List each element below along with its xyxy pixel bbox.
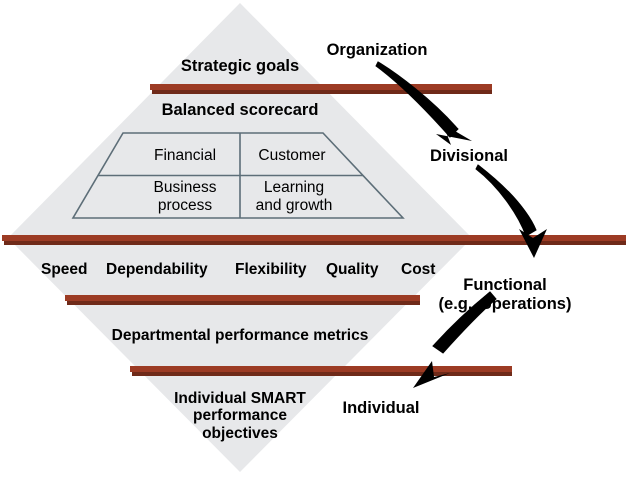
diagram-canvas: Strategic goals Balanced scorecard Finan… [0, 0, 626, 480]
scorecard-cell-business-process: Business process [154, 179, 217, 216]
band-label-strategic-goals: Strategic goals [181, 57, 299, 75]
band-label-individual-line3: objectives [174, 425, 306, 442]
band-line-3 [65, 295, 420, 305]
band-label-individual-line2: performance [174, 407, 306, 424]
scorecard-cell-business-process-line2: process [154, 197, 217, 215]
scorecard-cell-learning-and-growth-line2: and growth [256, 197, 333, 215]
band-label-individual-line1: Individual SMART [174, 390, 306, 407]
band-line-4 [130, 366, 512, 376]
band-label-balanced-scorecard: Balanced scorecard [162, 101, 319, 119]
performance-objective-speed: Speed [41, 261, 88, 279]
scorecard-cell-customer: Customer [258, 147, 325, 165]
hierarchy-level-individual: Individual [342, 399, 419, 418]
scorecard-cell-financial: Financial [154, 147, 216, 165]
performance-objective-quality: Quality [326, 261, 379, 279]
hierarchy-level-functional-line1: Functional [439, 276, 572, 295]
performance-objective-flexibility: Flexibility [235, 261, 307, 279]
hierarchy-level-functional: Functional (e.g., operations) [439, 276, 572, 315]
band-line-1 [150, 84, 492, 94]
scorecard-cell-business-process-line1: Business [154, 179, 217, 197]
scorecard-cell-learning-and-growth-line1: Learning [256, 179, 333, 197]
scorecard-cell-learning-and-growth: Learning and growth [256, 179, 333, 216]
hierarchy-level-organization: Organization [327, 41, 428, 60]
hierarchy-level-divisional: Divisional [430, 147, 508, 166]
band-label-departmental-performance-metrics: Departmental performance metrics [112, 327, 369, 344]
hierarchy-level-functional-line2: (e.g., operations) [439, 295, 572, 314]
performance-objective-dependability: Dependability [106, 261, 208, 279]
diagram-artwork [0, 0, 626, 480]
band-label-individual-smart-objectives: Individual SMART performance objectives [174, 390, 306, 442]
arrow-organization-to-divisional [376, 62, 472, 145]
performance-objective-cost: Cost [401, 261, 435, 279]
